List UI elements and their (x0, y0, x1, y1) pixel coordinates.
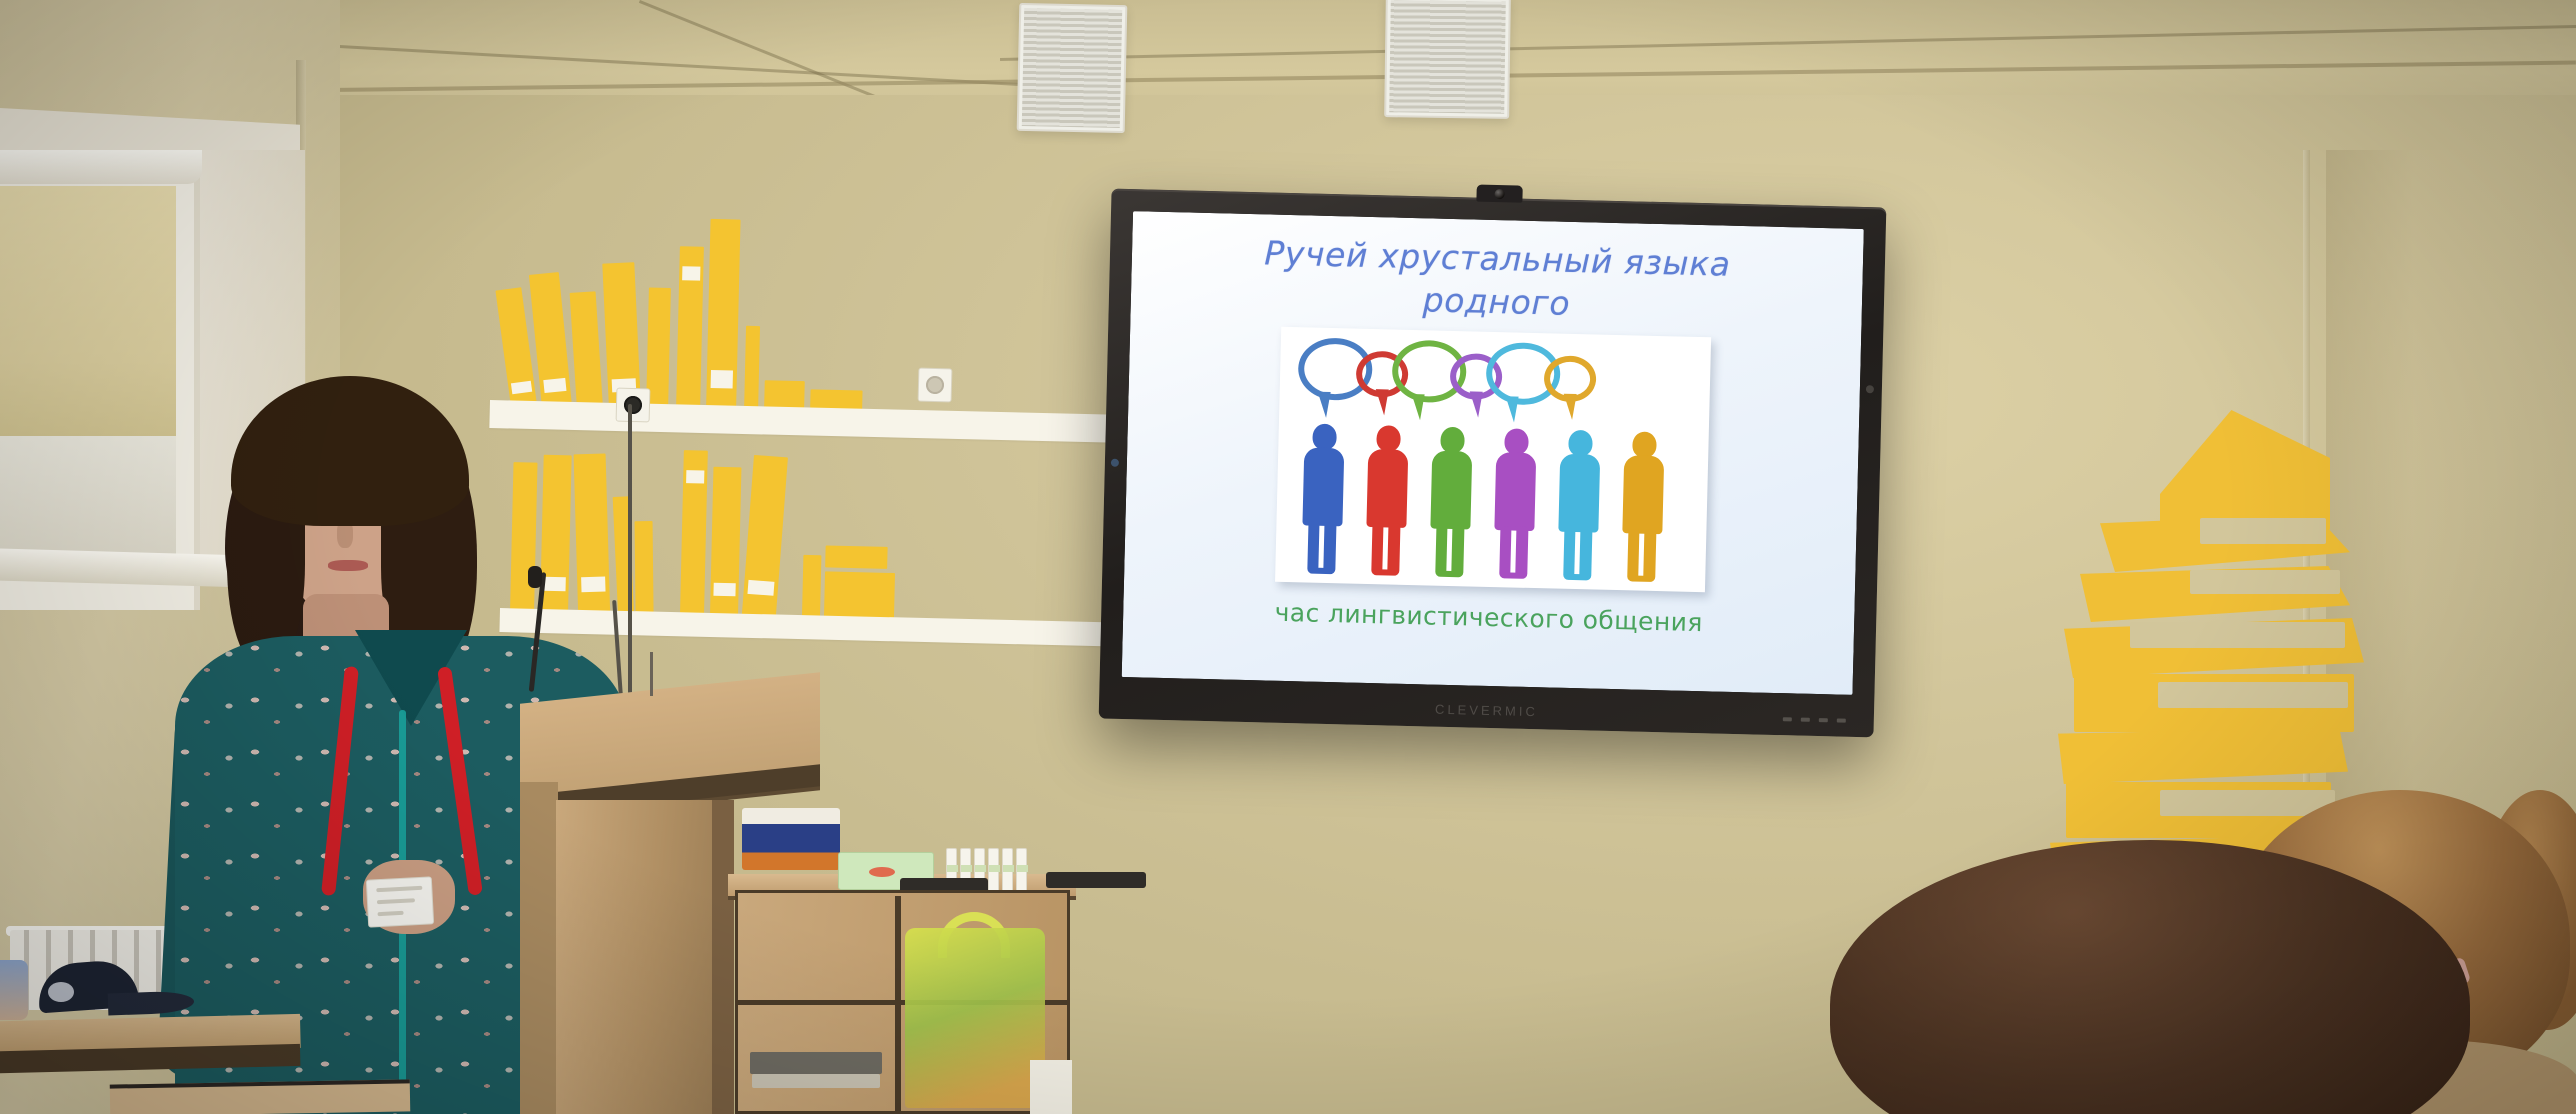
cap-logo-icon (48, 982, 74, 1002)
blue-box-on-shelf (742, 808, 840, 870)
people-silhouettes-group (1297, 423, 1669, 582)
presentation-slide: Ручей хрустальный языка родного (1122, 211, 1864, 695)
power-cable (628, 404, 632, 694)
slide-title-line-2: родного (1422, 280, 1570, 323)
wall-vent-left-icon (1017, 3, 1128, 133)
slide-title-line-1: Ручей хрустальный языка (1264, 233, 1731, 283)
shelf-divider (895, 896, 901, 1114)
slide-subtitle: час лингвистического общения (1274, 598, 1703, 637)
wall-vent-right-icon (1384, 0, 1511, 119)
object-on-desk (0, 960, 28, 1020)
person-silhouette (1297, 423, 1349, 574)
slide-artwork (1275, 327, 1711, 592)
ir-sensor-icon (1111, 459, 1119, 467)
display-control-keys[interactable] (1783, 717, 1846, 723)
classroom-scene: Ручей хрустальный языка родного (0, 0, 2576, 1114)
presenter-mouth (328, 560, 368, 571)
person-silhouette (1617, 431, 1669, 582)
name-badge (366, 876, 434, 927)
front-desk-lower (110, 1079, 411, 1114)
power-socket-right[interactable] (918, 368, 953, 403)
microphone-icon (528, 566, 542, 588)
roller-blind-housing (0, 150, 202, 184)
lectern-side (520, 782, 558, 1114)
person-silhouette (1553, 429, 1605, 580)
speech-bubbles-group (1297, 337, 1580, 406)
roller-blind[interactable] (0, 186, 176, 436)
lectern-cable (650, 652, 653, 696)
ceiling-tile-seam (1000, 24, 2576, 61)
webcam-icon (1476, 185, 1522, 203)
display-screen[interactable]: Ручей хрустальный языка родного (1122, 211, 1864, 695)
power-socket-left[interactable] (616, 388, 651, 423)
lectern-column (556, 800, 712, 1114)
window-glass (0, 436, 176, 556)
dark-object-on-shelf (1046, 872, 1146, 888)
lectern-column-shadow (712, 800, 734, 1114)
books-on-shelf (752, 1074, 880, 1088)
presenter-hair (231, 376, 469, 526)
speech-bubble-icon (1543, 355, 1596, 402)
display-brand-logo: CLEVERMIC (1435, 702, 1538, 720)
person-silhouette (1489, 428, 1541, 579)
books-on-shelf (750, 1052, 882, 1074)
ir-sensor-icon (1866, 385, 1874, 393)
person-silhouette (1361, 425, 1413, 576)
person-silhouette (1425, 426, 1477, 577)
interactive-display[interactable]: Ручей хрустальный языка родного (1099, 189, 1887, 738)
paper-on-shelf (1030, 1060, 1072, 1114)
plastic-bag (905, 928, 1045, 1108)
slide-title: Ручей хрустальный языка родного (1195, 231, 1798, 331)
